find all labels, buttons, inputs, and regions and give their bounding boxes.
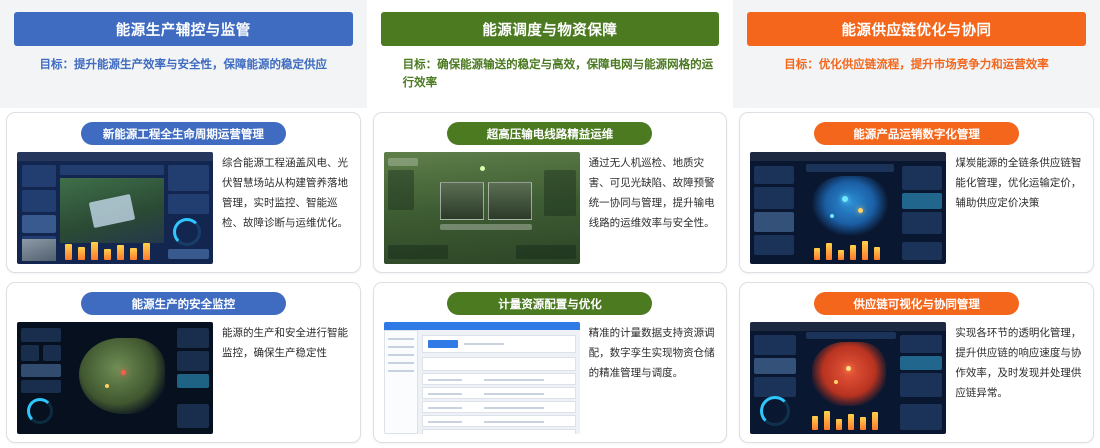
solution-card[interactable]: 供应链可视化与协同管理	[739, 282, 1094, 443]
solution-card[interactable]: 超高压输电线路精益运维 通过无人机巡检、地质灾害、可见光缺	[373, 112, 728, 273]
solution-card-grid: 新能源工程全生命周期运营管理	[0, 108, 1100, 448]
solution-card[interactable]: 新能源工程全生命周期运营管理	[6, 112, 361, 273]
transmission-line-inspection-dashboard-thumbnail	[384, 152, 580, 264]
column-headers: 能源生产辅控与监管 目标：提升能源生产效率与安全性，保障能源的稳定供应 能源调度…	[0, 0, 1100, 108]
card-description: 能源的生产和安全进行智能监控，确保生产稳定性	[222, 322, 350, 434]
column-title-production: 能源生产辅控与监管	[14, 12, 353, 46]
energy-product-sales-dashboard-thumbnail	[750, 152, 946, 264]
card-title: 超高压输电线路精益运维	[447, 122, 652, 145]
column-goal-supplychain: 目标：优化供应链流程，提升市场竞争力和运营效率	[747, 57, 1086, 75]
column-title-dispatch: 能源调度与物资保障	[381, 12, 720, 46]
column-header-production: 能源生产辅控与监管 目标：提升能源生产效率与安全性，保障能源的稳定供应	[0, 0, 367, 108]
card-description: 煤炭能源的全链条供应链智能化管理，优化运输定价，辅助供应定价决策	[955, 152, 1083, 264]
column-goal-dispatch: 目标：确保能源输送的稳定与高效，保障电网与能源网格的运行效率	[381, 57, 720, 93]
card-description: 综合能源工程涵盖风电、光伏智慧场站从构建管养落地管理，实时监控、智能巡检、故障诊…	[222, 152, 350, 264]
solution-card[interactable]: 计量资源配置与优化	[373, 282, 728, 443]
cell-dispatch-1: 超高压输电线路精益运维 通过无人机巡检、地质灾害、可见光缺	[367, 108, 734, 278]
new-energy-lifecycle-dashboard-thumbnail	[17, 152, 213, 264]
card-title: 能源产品运销数字化管理	[814, 122, 1019, 145]
card-description: 实现各环节的透明化管理，提升供应链的响应速度与协作效率，及时发现并处理供应链异常…	[955, 322, 1083, 434]
card-title: 新能源工程全生命周期运营管理	[81, 122, 286, 145]
cell-production-1: 新能源工程全生命周期运营管理	[0, 108, 367, 278]
card-title: 能源生产的安全监控	[81, 292, 286, 315]
solution-card[interactable]: 能源生产的安全监控	[6, 282, 361, 443]
cell-supplychain-1: 能源产品运销数字化管理	[733, 108, 1100, 278]
supply-chain-visualization-dashboard-thumbnail	[750, 322, 946, 434]
column-header-supplychain: 能源供应链优化与协同 目标：优化供应链流程，提升市场竞争力和运营效率	[733, 0, 1100, 108]
solution-card[interactable]: 能源产品运销数字化管理	[739, 112, 1094, 273]
metering-resource-allocation-dashboard-thumbnail	[384, 322, 580, 434]
cell-dispatch-2: 计量资源配置与优化	[367, 278, 734, 448]
column-title-supplychain: 能源供应链优化与协同	[747, 12, 1086, 46]
column-goal-production: 目标：提升能源生产效率与安全性，保障能源的稳定供应	[14, 57, 353, 75]
card-description: 精准的计量数据支持资源调配，数字孪生实现物资仓储的精准管理与调度。	[589, 322, 717, 434]
column-header-dispatch: 能源调度与物资保障 目标：确保能源输送的稳定与高效，保障电网与能源网格的运行效率	[367, 0, 734, 108]
cell-supplychain-2: 供应链可视化与协同管理	[733, 278, 1100, 448]
energy-solution-overview-page: 能源生产辅控与监管 目标：提升能源生产效率与安全性，保障能源的稳定供应 能源调度…	[0, 0, 1100, 448]
card-title: 计量资源配置与优化	[447, 292, 652, 315]
production-safety-monitoring-dashboard-thumbnail	[17, 322, 213, 434]
cell-production-2: 能源生产的安全监控	[0, 278, 367, 448]
card-description: 通过无人机巡检、地质灾害、可见光缺陷、故障预警统一协同与管理，提升输电线路的运维…	[589, 152, 717, 264]
card-title: 供应链可视化与协同管理	[814, 292, 1019, 315]
